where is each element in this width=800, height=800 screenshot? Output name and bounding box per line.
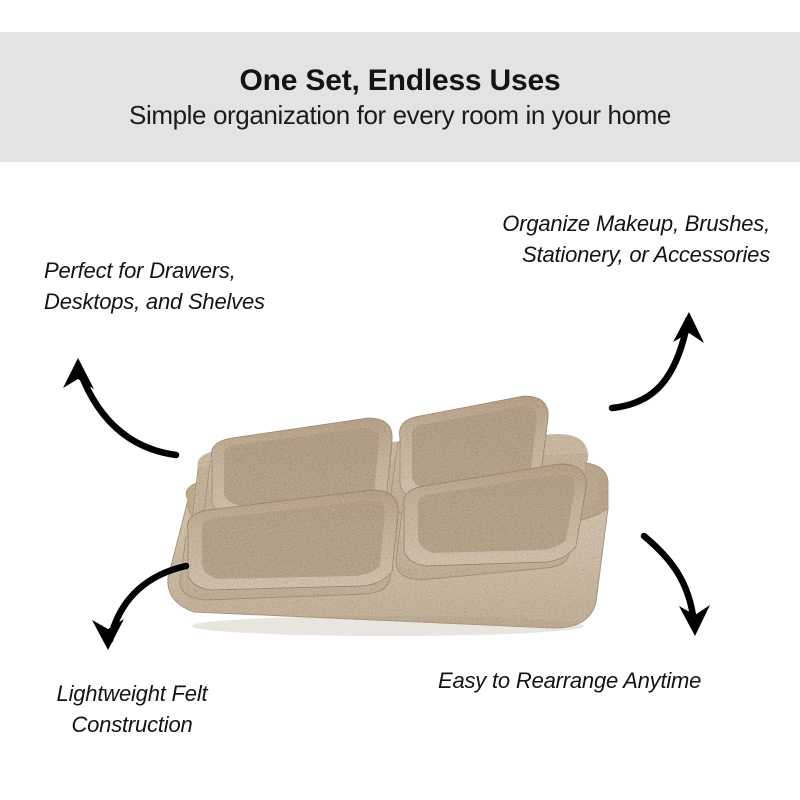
curved-arrow-down-right-icon [644, 536, 710, 636]
felt-organizer-illustration [150, 350, 620, 650]
product-image [150, 350, 620, 650]
callout-top-right-label: Organize Makeup, Brushes, Stationery, or… [430, 208, 770, 270]
curved-arrow-up-right-icon [612, 312, 704, 408]
page-title: One Set, Endless Uses [240, 65, 561, 97]
page-subtitle: Simple organization for every room in yo… [129, 102, 671, 129]
infographic-canvas: One Set, Endless Uses Simple organizatio… [0, 0, 800, 800]
callout-top-left-label: Perfect for Drawers, Desktops, and Shelv… [44, 255, 344, 317]
header-banner: One Set, Endless Uses Simple organizatio… [0, 32, 800, 162]
callout-bottom-right-label: Easy to Rearrange Anytime [438, 665, 783, 696]
callout-bottom-left-label: Lightweight Felt Construction [22, 678, 242, 740]
